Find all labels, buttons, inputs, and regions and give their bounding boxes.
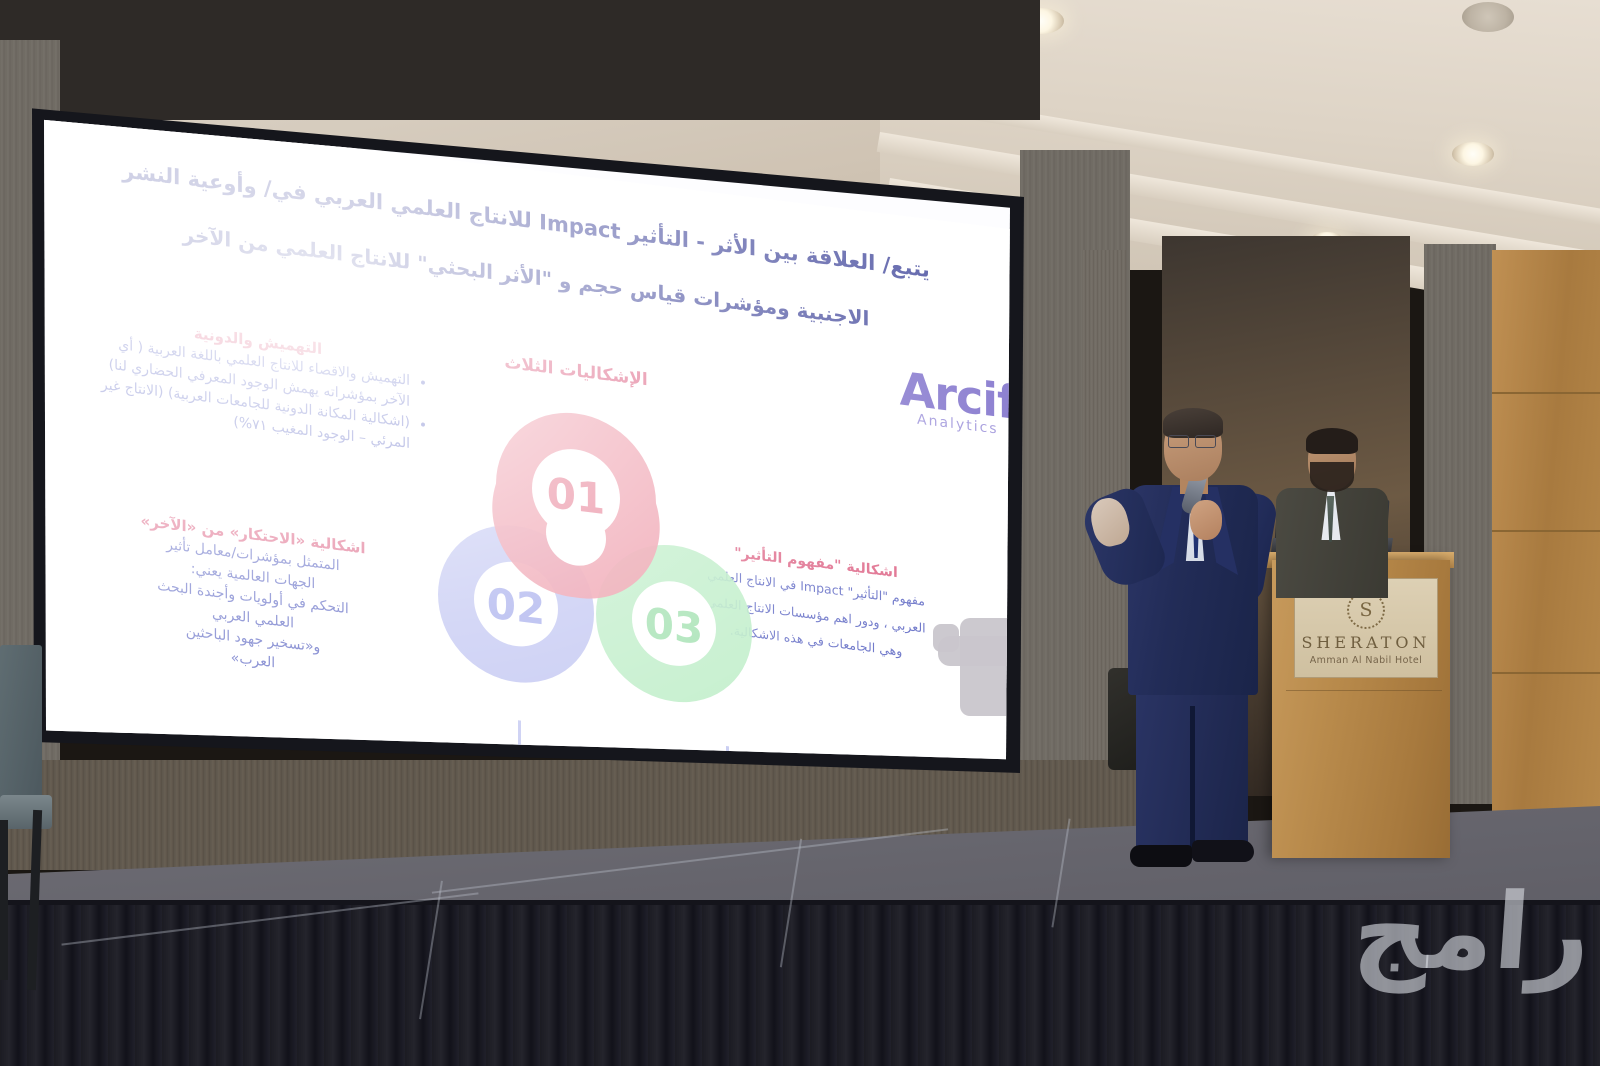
wood-wall-panel-seam-1 (1492, 392, 1600, 394)
wood-wall-panel-seam-2 (1492, 530, 1600, 532)
screen-surface: يتبع/ العلاقة بين الأثر - التأثير Impact… (28, 58, 1028, 778)
slide-copyright: © 2025 ARCIF (64, 771, 265, 778)
sheraton-hotel-subtitle: Amman Al Nabil Hotel (1310, 655, 1422, 666)
conference-photo-scene: يتبع/ العلاقة بين الأثر - التأثير Impact… (0, 0, 1600, 1066)
ceiling-downlight-2 (1452, 142, 1494, 166)
speaker-hand-right (1190, 500, 1222, 540)
second-attendee-beard (1310, 462, 1354, 492)
speaker-hair (1163, 408, 1223, 438)
sheraton-brand-name: SHERATON (1301, 633, 1430, 652)
wood-wall-panel-right (1492, 250, 1600, 820)
speaker-shoe-right (1192, 840, 1254, 862)
presenter-shadow-hand (933, 624, 959, 652)
chair-leg-rear (0, 820, 8, 980)
ceiling-speaker (1462, 2, 1514, 32)
podium-panel-seam (1286, 690, 1442, 691)
three-issues-diagram (346, 357, 766, 739)
chair-backrest (0, 645, 42, 810)
arcif-logo: Arcif Analytics (900, 365, 1016, 439)
speaker-trouser-split (1190, 706, 1195, 858)
speaker-shoe-left (1130, 845, 1192, 867)
second-attendee-hair (1306, 428, 1358, 454)
projection-screen: يتبع/ العلاقة بين الأثر - التأثير Impact… (28, 58, 1028, 778)
eyeglasses-icon (1168, 435, 1216, 446)
wood-wall-panel-seam-3 (1492, 672, 1600, 674)
presentation-slide: يتبع/ العلاقة بين الأثر - التأثير Impact… (46, 110, 1028, 778)
photo-watermark: رامج (1266, 880, 1594, 1000)
